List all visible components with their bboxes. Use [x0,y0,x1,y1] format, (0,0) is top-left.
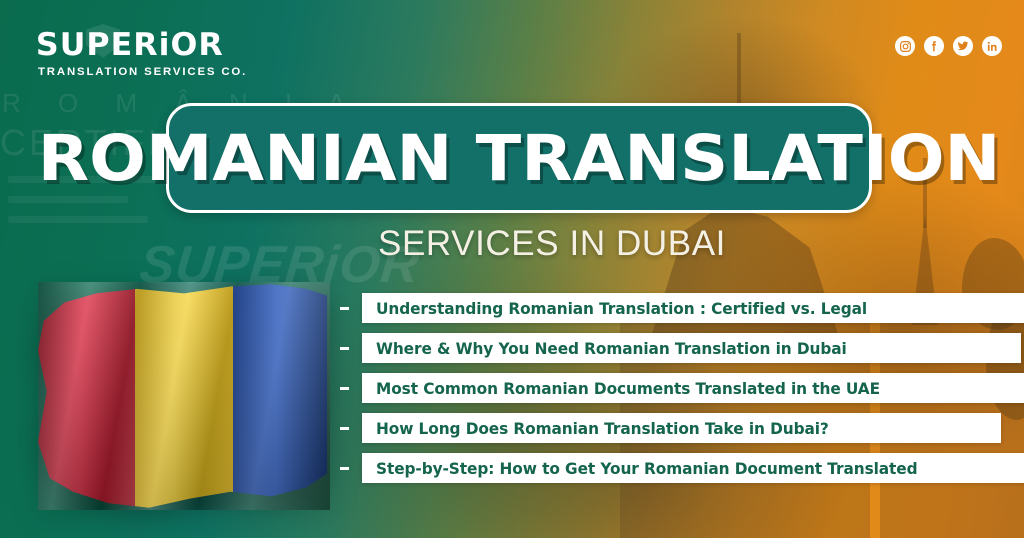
dash-icon [340,347,349,350]
watermark-doc-line-2 [8,196,128,203]
twitter-icon[interactable] [953,36,973,56]
topic-label: Understanding Romanian Translation : Cer… [376,299,867,318]
topic-bar[interactable]: Step-by-Step: How to Get Your Romanian D… [362,453,1024,483]
list-item[interactable]: Most Common Romanian Documents Translate… [340,373,1024,403]
dash-icon [340,387,349,390]
topic-label: How Long Does Romanian Translation Take … [376,419,829,438]
hero-banner: R O M Â N I A CERTIFICAT SUPERiOR SUPERi… [0,0,1024,538]
list-item[interactable]: How Long Does Romanian Translation Take … [340,413,1024,443]
watermark-doc-line-3 [8,216,148,223]
list-item[interactable]: Understanding Romanian Translation : Cer… [340,293,1024,323]
topic-bar[interactable]: Understanding Romanian Translation : Cer… [362,293,1024,323]
topic-bar[interactable]: Where & Why You Need Romanian Translatio… [362,333,1021,363]
brand-logo-tagline: TRANSLATION SERVICES CO. [38,66,247,78]
flag-band-yellow [135,282,232,510]
flag-band-blue [233,282,330,510]
facebook-icon[interactable] [924,36,944,56]
list-item[interactable]: Step-by-Step: How to Get Your Romanian D… [340,453,1024,483]
topic-label: Where & Why You Need Romanian Translatio… [376,339,847,358]
linkedin-icon[interactable] [982,36,1002,56]
dash-icon [340,307,349,310]
hero-subtitle: SERVICES IN DUBAI [378,224,726,264]
romanian-flag [38,282,330,510]
flag-band-red [38,282,135,510]
social-links [895,36,1002,56]
hero-title-plate: ROMANIAN TRANSLATION [166,103,872,213]
topic-list: Understanding Romanian Translation : Cer… [340,293,1024,483]
topic-label: Step-by-Step: How to Get Your Romanian D… [376,459,918,478]
topic-bar[interactable]: Most Common Romanian Documents Translate… [362,373,1024,403]
dash-icon [340,467,349,470]
topic-label: Most Common Romanian Documents Translate… [376,379,880,398]
topic-bar[interactable]: How Long Does Romanian Translation Take … [362,413,1001,443]
flag-bands [38,282,330,510]
page-title: ROMANIAN TRANSLATION [38,127,1001,190]
dash-icon [340,427,349,430]
instagram-icon[interactable] [895,36,915,56]
brand-logo-word: SUPERiOR [36,30,249,61]
brand-logo[interactable]: SUPERiOR TRANSLATION SERVICES CO. [38,30,247,78]
list-item[interactable]: Where & Why You Need Romanian Translatio… [340,333,1024,363]
